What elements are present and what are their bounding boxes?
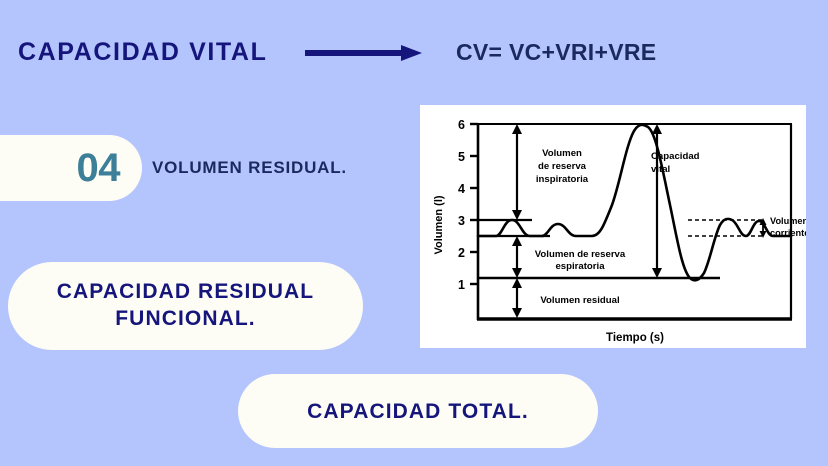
item-label-volumen-residual: VOLUMEN RESIDUAL. bbox=[152, 135, 347, 201]
item-number-badge: 04 bbox=[0, 135, 142, 201]
pill-total-label: CAPACIDAD TOTAL. bbox=[307, 401, 529, 422]
page-title: CAPACIDAD VITAL bbox=[18, 26, 267, 78]
heading-row: CAPACIDAD VITAL CV= VC+VRI+VRE bbox=[0, 26, 828, 78]
vr-label-line-1: Volumen residual bbox=[540, 295, 619, 306]
spirogram-svg: 6 5 4 3 2 1 Volumen (l) Tiempo (s) bbox=[420, 105, 806, 348]
y-tick-label-2: 2 bbox=[458, 246, 465, 260]
vri-label-line-1: Volumen bbox=[542, 148, 582, 159]
vri-label-line-2: de reserva bbox=[538, 161, 587, 172]
y-tick-label-6: 6 bbox=[458, 118, 465, 132]
vre-label-line-1: Volumen de reserva bbox=[535, 249, 626, 260]
cv-label-line-2: vital bbox=[651, 164, 670, 175]
vri-label-line-3: inspiratoria bbox=[536, 174, 589, 185]
pill-crf-line-2: FUNCIONAL. bbox=[115, 306, 256, 333]
x-axis-title: Tiempo (s) bbox=[606, 332, 664, 344]
vc-label-line-1: Volumen bbox=[770, 216, 806, 226]
y-tick-label-3: 3 bbox=[458, 214, 465, 228]
pill-crf-line-1: CAPACIDAD RESIDUAL bbox=[57, 279, 314, 306]
right-arrow-icon bbox=[305, 42, 423, 64]
item-number-text: 04 bbox=[77, 148, 121, 188]
vital-capacity-formula: CV= VC+VRI+VRE bbox=[456, 26, 656, 78]
pill-capacidad-residual-funcional: CAPACIDAD RESIDUAL FUNCIONAL. bbox=[8, 262, 363, 350]
pill-capacidad-total: CAPACIDAD TOTAL. bbox=[238, 374, 598, 448]
spirogram-figure: 6 5 4 3 2 1 Volumen (l) Tiempo (s) bbox=[420, 105, 806, 348]
slide-canvas: CAPACIDAD VITAL CV= VC+VRI+VRE 04 VOLUME… bbox=[0, 0, 828, 466]
y-axis-title: Volumen (l) bbox=[433, 195, 445, 254]
y-tick-label-1: 1 bbox=[458, 278, 465, 292]
y-tick-label-4: 4 bbox=[458, 182, 465, 196]
vre-label-line-2: espiratoria bbox=[555, 261, 605, 272]
cv-label-line-1: Capacidad bbox=[651, 151, 700, 162]
vc-label-line-2: corriente bbox=[770, 228, 806, 238]
y-tick-label-5: 5 bbox=[458, 150, 465, 164]
